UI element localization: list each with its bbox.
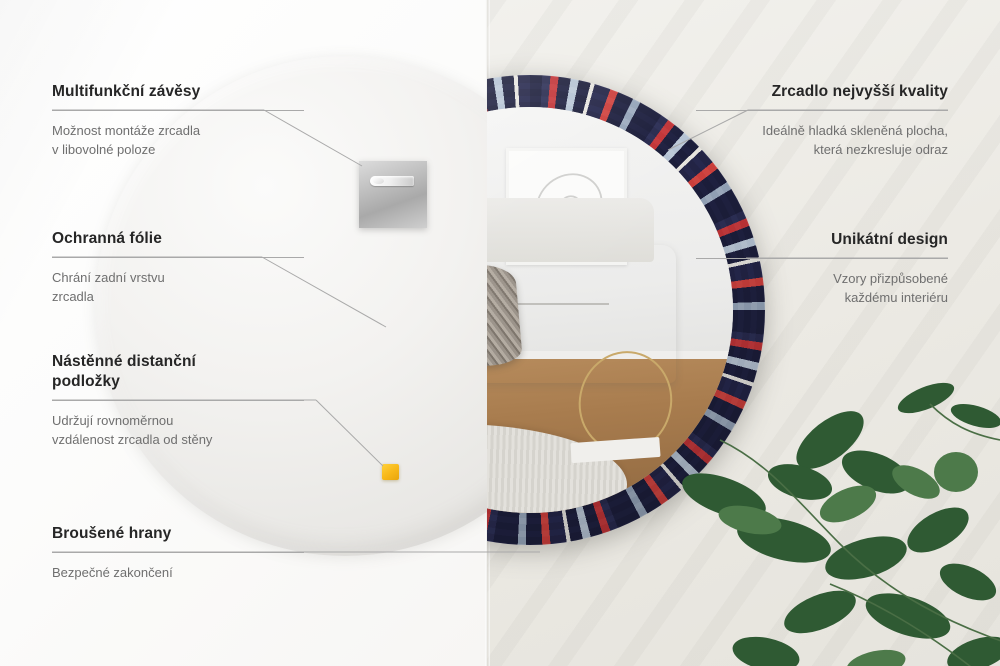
callout-spacers-rule	[52, 400, 304, 401]
callout-hangers-title: Multifunkční závěsy	[52, 82, 304, 102]
callout-quality-body-line2: která nezkresluje odraz	[696, 140, 948, 160]
callout-spacers: Nástěnné distanční podložky Udržují rovn…	[52, 352, 304, 450]
callout-hangers: Multifunkční závěsy Možnost montáže zrca…	[52, 82, 304, 160]
callout-edges-rule	[52, 552, 304, 553]
callout-design-rule	[696, 258, 948, 259]
callout-hangers-body-line2: v libovolné poloze	[52, 140, 304, 160]
callout-edges-title: Broušené hrany	[52, 524, 304, 544]
callout-spacers-body-line1: Udržují rovnoměrnou	[52, 411, 304, 431]
callout-spacers-title-line2: podložky	[52, 372, 304, 392]
callout-edges-body-line1: Bezpečné zakončení	[52, 563, 304, 583]
infographic-canvas: Multifunkční závěsy Možnost montáže zrca…	[0, 0, 1000, 666]
callout-spacers-title-line1: Nástěnné distanční	[52, 352, 304, 372]
callout-design: Unikátní design Vzory přizpůsobené každé…	[696, 230, 948, 308]
callout-foil: Ochranná fólie Chrání zadní vrstvu zrcad…	[52, 229, 304, 307]
callout-quality-title: Zrcadlo nejvyšší kvality	[696, 82, 948, 102]
callout-edges: Broušené hrany Bezpečné zakončení	[52, 524, 304, 582]
callout-quality: Zrcadlo nejvyšší kvality Ideálně hladká …	[696, 82, 948, 160]
callout-quality-rule	[696, 110, 948, 111]
callout-foil-title: Ochranná fólie	[52, 229, 304, 249]
callout-spacers-body-line2: vzdálenost zrcadla od stěny	[52, 430, 304, 450]
callout-design-title: Unikátní design	[696, 230, 948, 250]
callout-design-body-line2: každému interiéru	[696, 288, 948, 308]
callout-foil-rule	[52, 257, 304, 258]
callout-foil-body-line2: zrcadla	[52, 287, 304, 307]
callout-design-body-line1: Vzory přizpůsobené	[696, 269, 948, 289]
callout-hangers-body-line1: Možnost montáže zrcadla	[52, 121, 304, 141]
callout-quality-body-line1: Ideálně hladká skleněná plocha,	[696, 121, 948, 141]
callout-hangers-rule	[52, 110, 304, 111]
callout-foil-body-line1: Chrání zadní vrstvu	[52, 268, 304, 288]
